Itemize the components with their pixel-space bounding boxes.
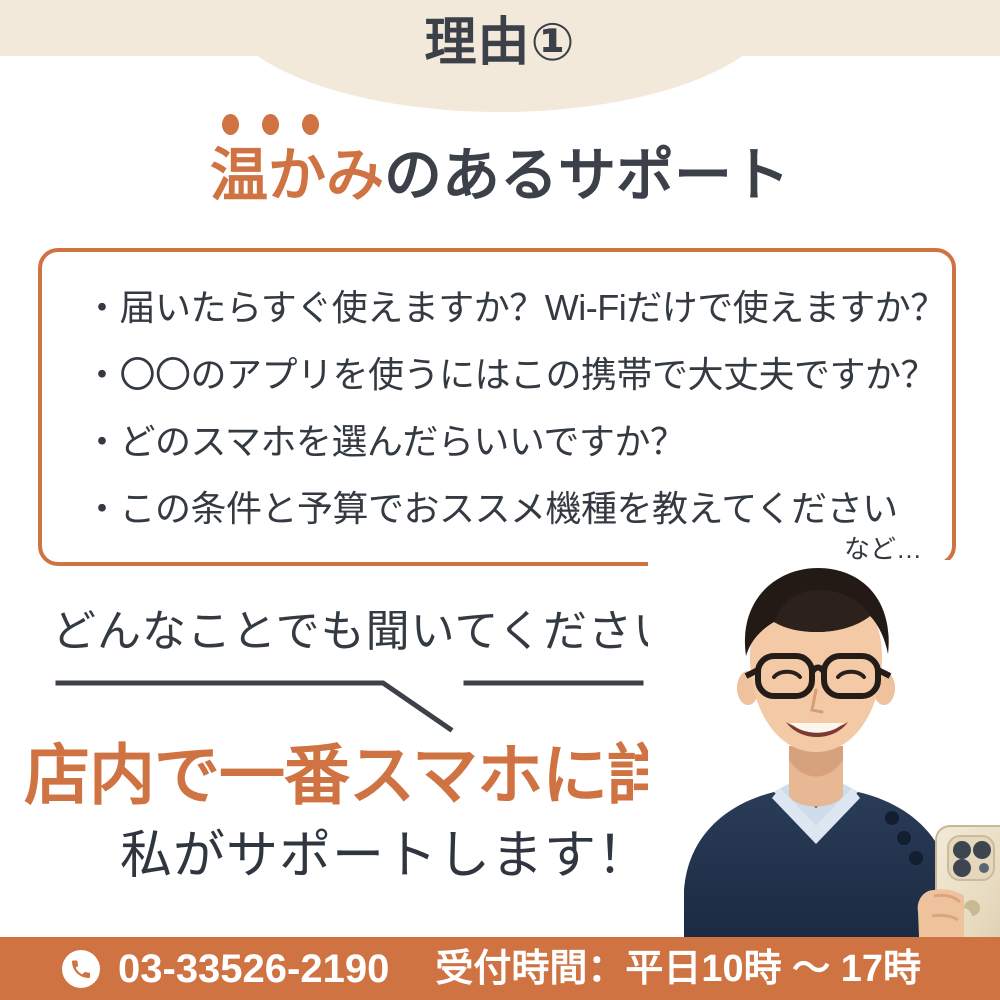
headline-secondary: 私がサポートします！ (120, 823, 650, 889)
phone-number[interactable]: 03-33526-2190 (118, 946, 389, 992)
list-item: ・〇〇のアプリを使うにはこの携帯で大丈夫ですか？ (84, 341, 930, 408)
business-hours: 受付時間：平日10時 〜 17時 (435, 946, 921, 992)
ask-anything-text: どんなことでも聞いてください！ (52, 602, 723, 662)
emphasis-dot (302, 114, 319, 135)
speech-bubble-tail (40, 665, 680, 745)
subtitle: 温かみのあるサポート (0, 140, 1000, 212)
subtitle-rest: のあるサポート (384, 143, 790, 208)
contact-footer-content: 03-33526-2190 受付時間：平日10時 〜 17時 (62, 937, 921, 1000)
question-list: ・届いたらすぐ使えますか？Wi-Fiだけで使えますか？ ・〇〇のアプリを使うには… (84, 274, 930, 542)
question-box: ・届いたらすぐ使えますか？Wi-Fiだけで使えますか？ ・〇〇のアプリを使うには… (38, 248, 956, 566)
emphasis-dot (262, 114, 279, 135)
staff-photo: staff photo (648, 560, 1000, 940)
subtitle-highlight: 温かみ (210, 143, 384, 208)
phone-icon (62, 950, 100, 988)
list-item: ・どのスマホを選んだらいいですか？ (84, 408, 930, 475)
emphasis-dots (218, 114, 328, 138)
page-title: 理由① (0, 12, 1000, 74)
emphasis-dot (222, 114, 239, 135)
poster-root: 理由① 温かみのあるサポート ・届いたらすぐ使えますか？Wi-Fiだけで使えます… (0, 0, 1000, 1000)
list-item: ・届いたらすぐ使えますか？Wi-Fiだけで使えますか？ (84, 274, 930, 341)
list-item: ・この条件と予算でおススメ機種を教えてください (84, 475, 930, 542)
contact-footer-bar: 03-33526-2190 受付時間：平日10時 〜 17時 (0, 937, 1000, 1000)
